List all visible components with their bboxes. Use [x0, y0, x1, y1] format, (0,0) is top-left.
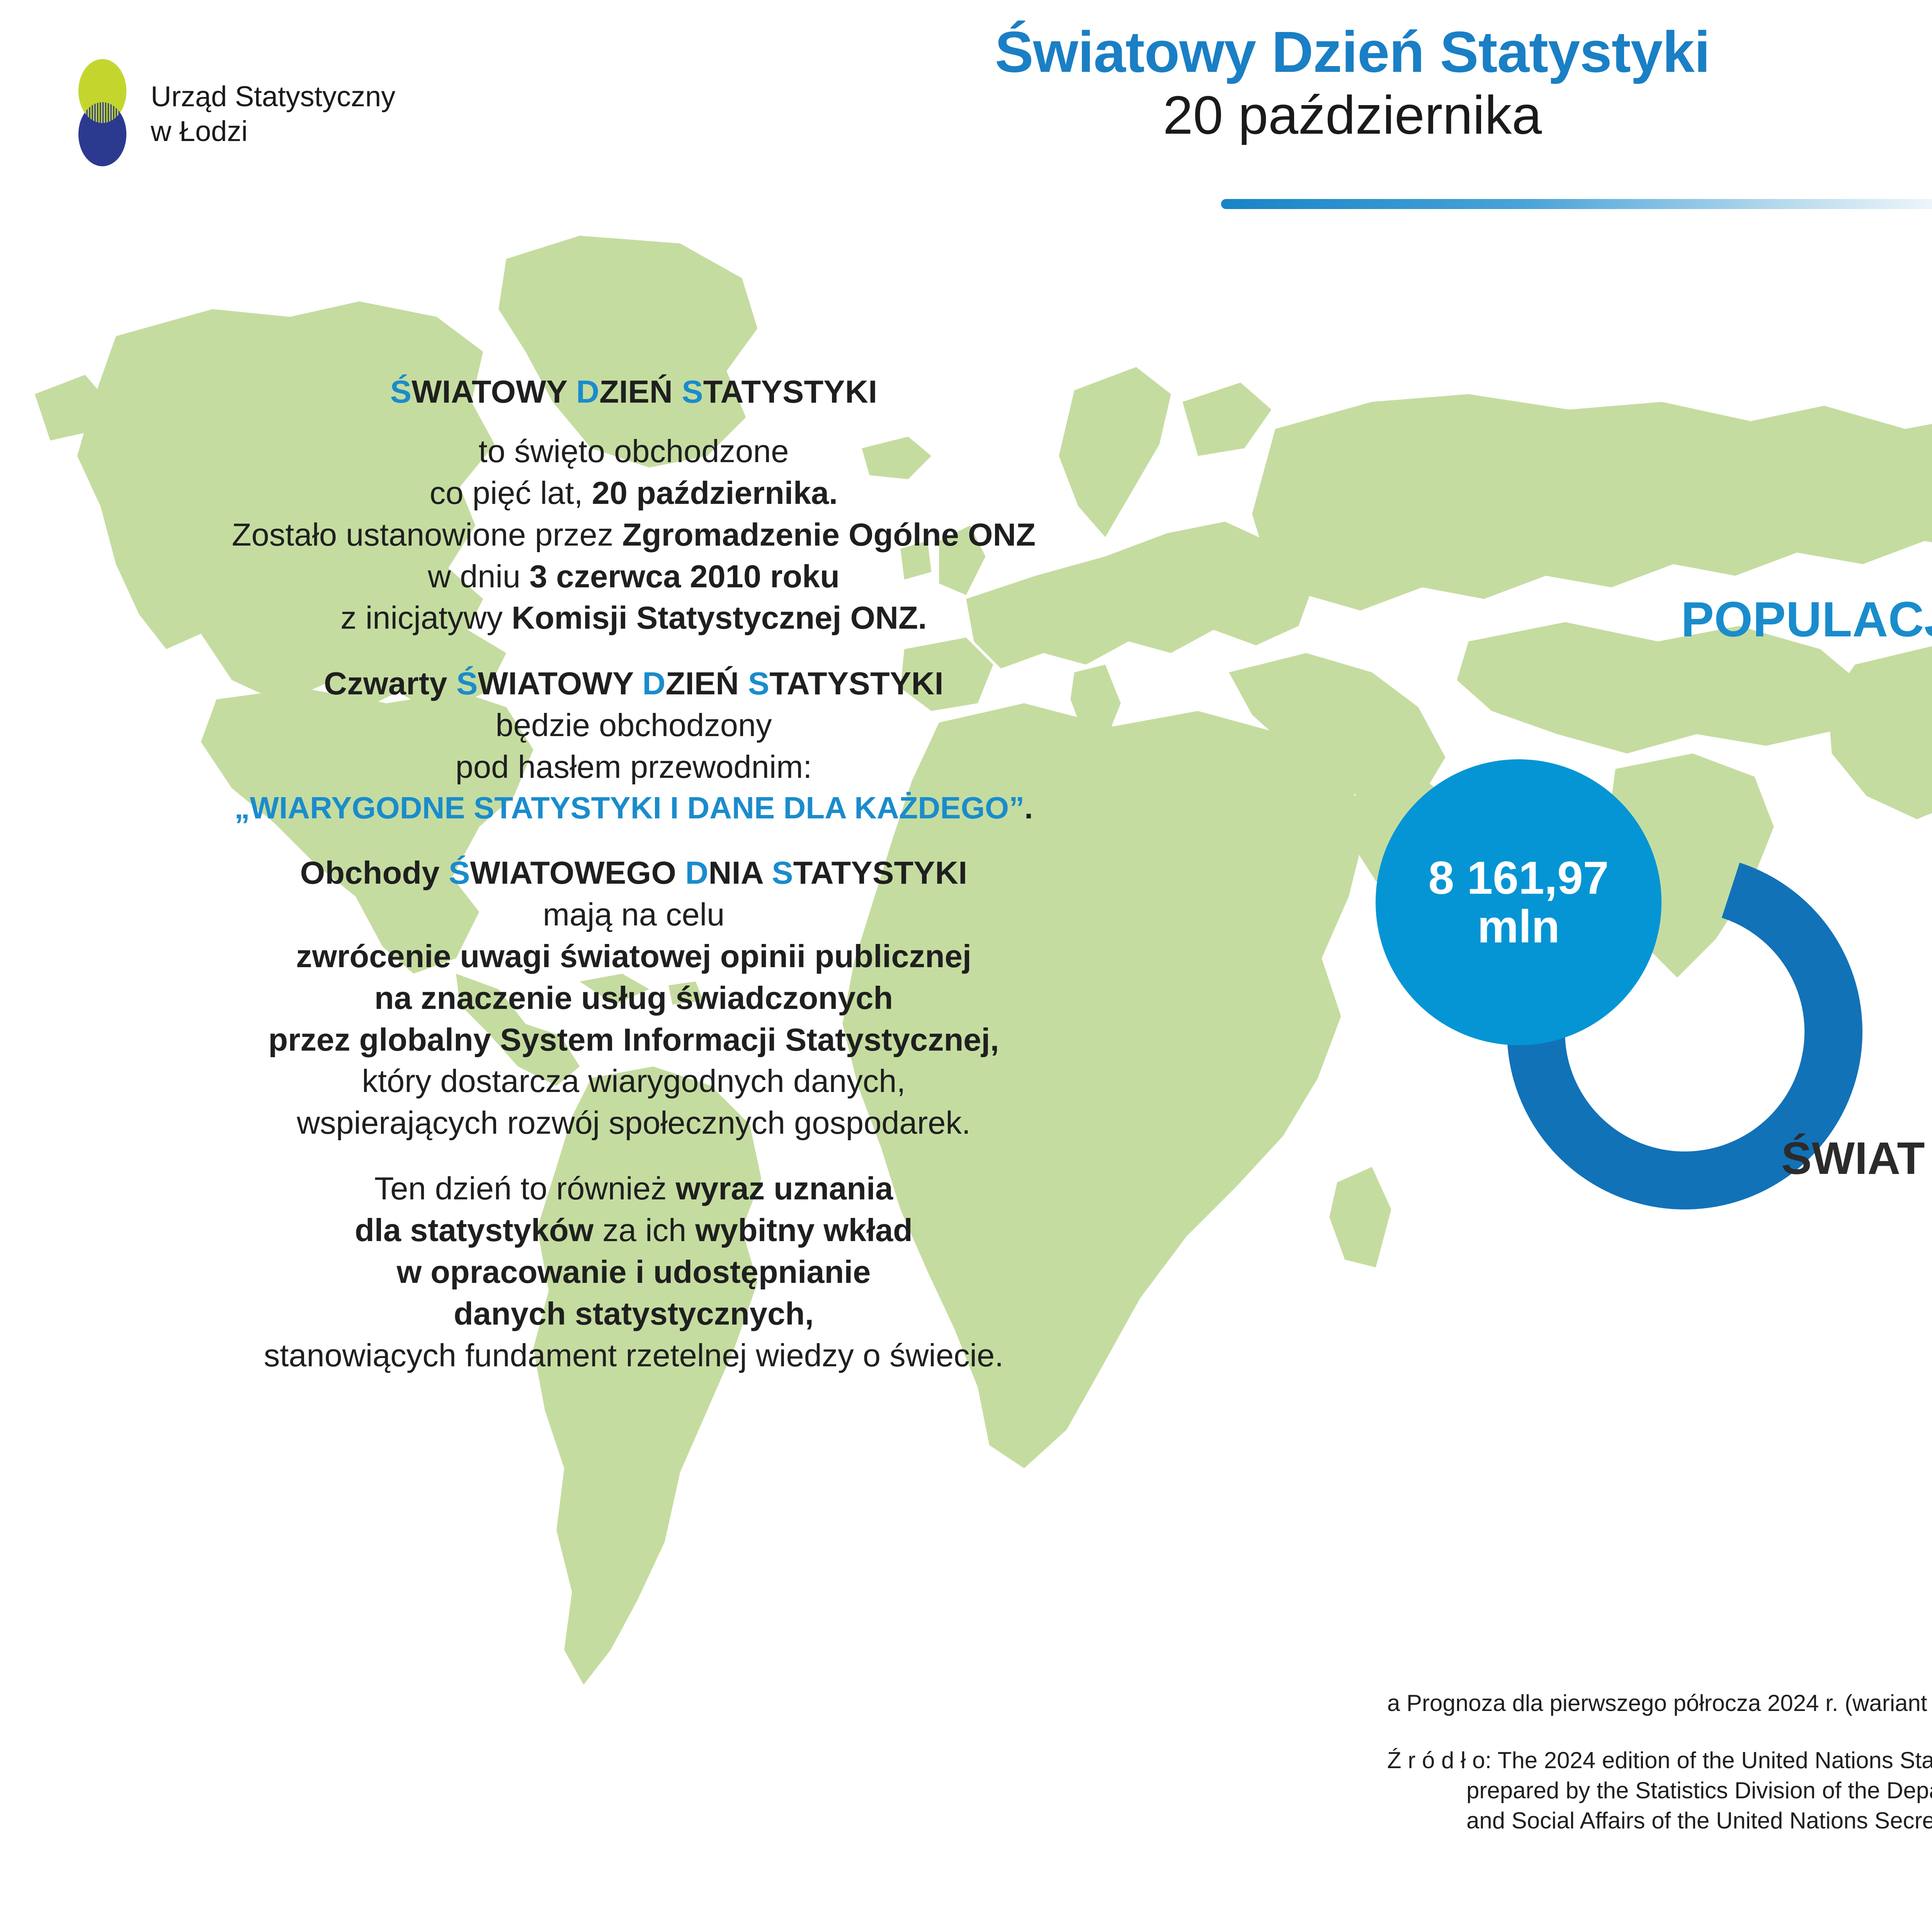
p2-line-2: pod hasłem przewodnim:: [50, 746, 1217, 788]
population-section-title: POPULACJA W 2024 ROKUa: [1376, 591, 1932, 648]
p3-line-1: mają na celu: [50, 894, 1217, 935]
p1-line-1: to święto obchodzone: [50, 430, 1217, 472]
page-subtitle: 20 października: [734, 85, 1932, 146]
value-swiat: 8 161,97: [1428, 854, 1609, 902]
p2-line-1: będzie obchodzony: [50, 704, 1217, 746]
paragraph-4: Ten dzień to również wyraz uznania dla s…: [50, 1168, 1217, 1376]
source-line-3: and Social Affairs of the United Nations…: [1387, 1806, 1932, 1836]
footnote-a: a Prognoza dla pierwszego półrocza 2024 …: [1387, 1689, 1932, 1718]
paragraph-3: Obchody ŚWIATOWEGO DNIA STATYSTYKI mają …: [50, 852, 1217, 1144]
notes-block: a Prognoza dla pierwszego półrocza 2024 …: [1387, 1689, 1932, 1836]
description-column: ŚWIATOWY DZIEŃ STATYSTYKI to święto obch…: [50, 371, 1217, 1376]
page-title-block: Światowy Dzień Statystyki 20 październik…: [734, 21, 1932, 146]
p1-line-5: z inicjatywy Komisji Statystycznej ONZ.: [50, 597, 1217, 639]
p1-line-2: co pięć lat, 20 października.: [50, 472, 1217, 514]
p2-motto: „WIARYGODNE STATYSTYKI I DANE DLA KAŻDEG…: [50, 788, 1217, 828]
p1-line-4: w dniu 3 czerwca 2010 roku: [50, 556, 1217, 597]
p4-line-3: w opracowanie i udostępnianie: [50, 1251, 1217, 1293]
infographic-page: Urząd Statystycznyw Łodzi Światowy Dzień…: [0, 0, 1932, 1932]
p1-line-3: Zostało ustanowione przez Zgromadzenie O…: [50, 514, 1217, 556]
us-lodz-logo-icon: [70, 58, 135, 170]
p4-line-5: stanowiących fundament rzetelnej wiedzy …: [50, 1335, 1217, 1376]
label-swiat: ŚWIAT: [1781, 1132, 1925, 1185]
p3-line-4: przez globalny System Informacji Statyst…: [50, 1019, 1217, 1061]
p4-line-1: Ten dzień to również wyraz uznania: [50, 1168, 1217, 1209]
p3-line-3: na znaczenie usług świadczonych: [50, 977, 1217, 1019]
value-bubble-swiat: 8 161,97 mln: [1376, 759, 1662, 1045]
org-line-2: w Łodzi: [151, 115, 248, 147]
p3-line-2: zwrócenie uwagi światowej opinii publicz…: [50, 935, 1217, 977]
organization-name: Urząd Statystycznyw Łodzi: [151, 79, 395, 149]
p1-heading: ŚWIATOWY DZIEŃ STATYSTYKI: [50, 371, 1217, 413]
p3-line-6: wspierających rozwój społecznych gospoda…: [50, 1102, 1217, 1144]
source-note: Ź r ó d ł o: The 2024 edition of the Uni…: [1387, 1745, 1932, 1836]
p4-line-4: danych statystycznych,: [50, 1293, 1217, 1335]
source-line-2: prepared by the Statistics Division of t…: [1387, 1776, 1932, 1806]
p3-line-5: który dostarcza wiarygodnych danych,: [50, 1060, 1217, 1102]
unit-swiat: mln: [1477, 902, 1560, 951]
title-underline-rule: [1221, 199, 1932, 209]
p2-heading: Czwarty ŚWIATOWY DZIEŃ STATYSTYKI: [50, 663, 1217, 704]
p3-heading: Obchody ŚWIATOWEGO DNIA STATYSTYKI: [50, 852, 1217, 894]
source-line-1: Ź r ó d ł o: The 2024 edition of the Uni…: [1387, 1745, 1932, 1776]
paragraph-1: ŚWIATOWY DZIEŃ STATYSTYKI to święto obch…: [50, 371, 1217, 639]
p4-line-2: dla statystyków za ich wybitny wkład: [50, 1209, 1217, 1251]
organization-logo: Urząd Statystycznyw Łodzi: [70, 58, 395, 170]
org-line-1: Urząd Statystyczny: [151, 80, 395, 112]
page-title: Światowy Dzień Statystyki: [734, 21, 1932, 83]
paragraph-2: Czwarty ŚWIATOWY DZIEŃ STATYSTYKI będzie…: [50, 663, 1217, 828]
